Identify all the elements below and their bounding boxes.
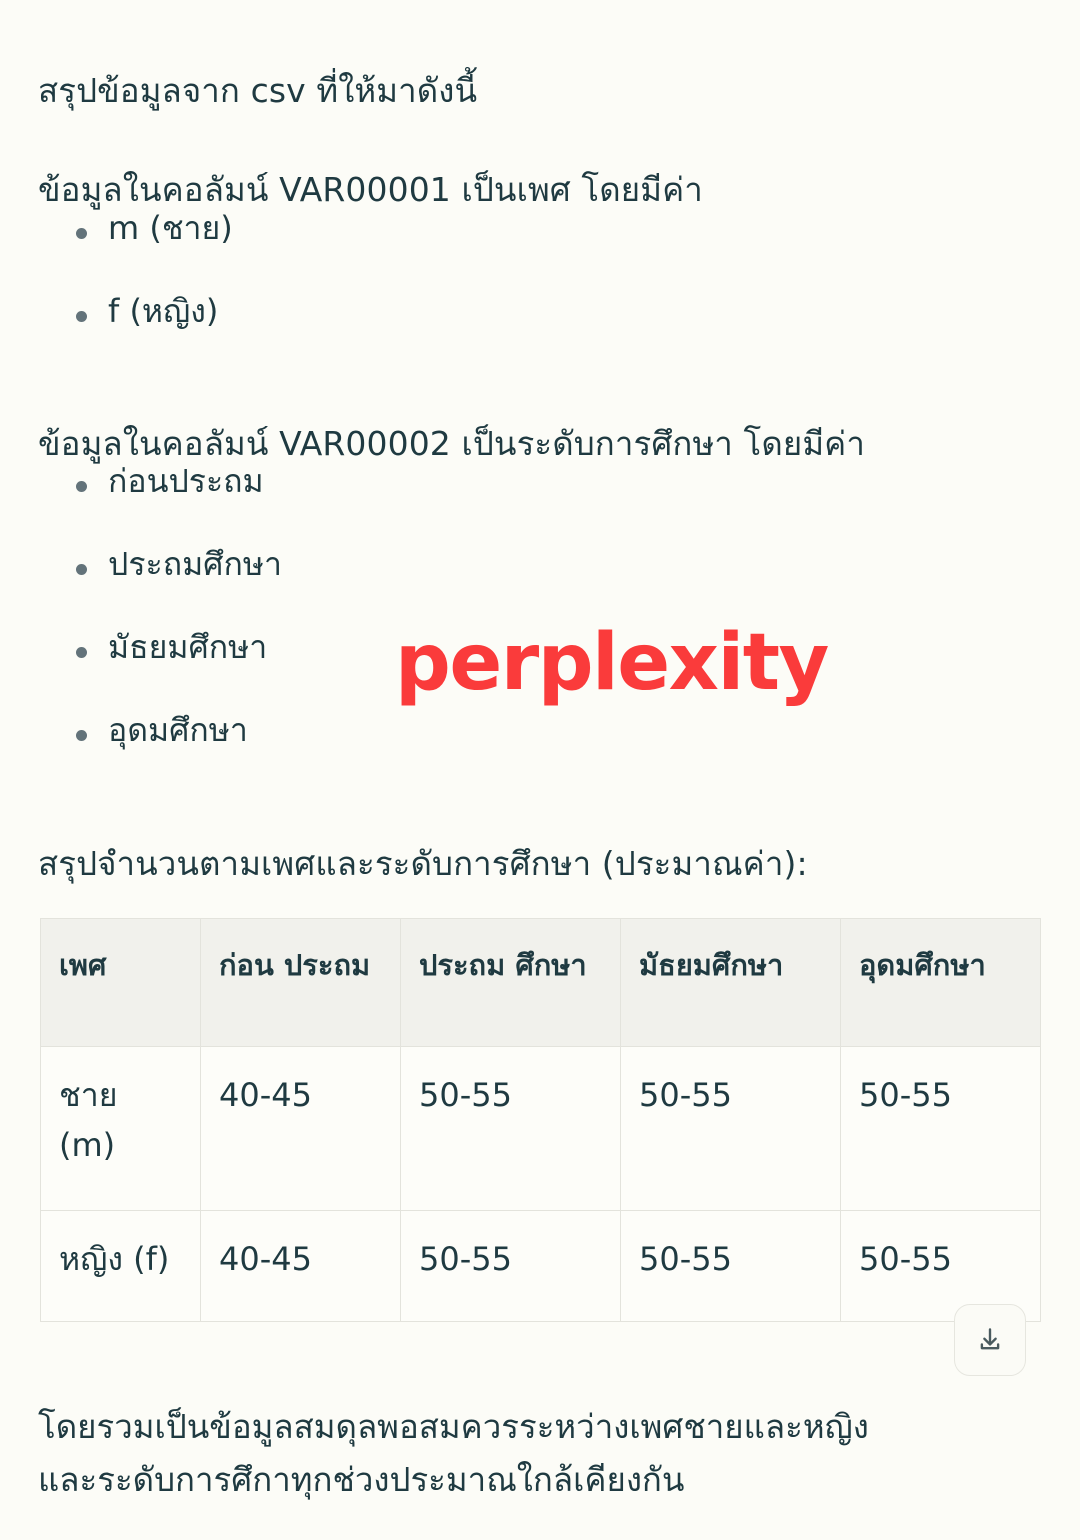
closing-paragraph: โดยรวมเป็นข้อมูลสมดุลพอสมควรระหว่างเพศชา… — [38, 1400, 1048, 1507]
closing-line-1: โดยรวมเป็นข้อมูลสมดุลพอสมควรระหว่างเพศชา… — [38, 1400, 1048, 1453]
cell-pre-primary: 40-45 — [201, 1047, 401, 1211]
column-header-primary: ประถม ศึกษา — [401, 919, 621, 1047]
bullet-point-icon — [76, 730, 87, 741]
cell-primary: 50-55 — [401, 1211, 621, 1322]
table-caption: สรุปจำนวนตามเพศและระดับการศึกษา (ประมาณค… — [38, 838, 808, 890]
list-item: m (ชาย) — [38, 212, 233, 295]
table-header-row: เพศ ก่อน ประถม ประถม ศึกษา มัธยมศึกษา อุ… — [41, 919, 1041, 1047]
list-item: อุดมศึกษา — [38, 714, 282, 797]
list-item: ก่อนประถม — [38, 465, 282, 548]
bullet-point-icon — [76, 481, 87, 492]
bullet-point-icon — [76, 228, 87, 239]
column-header-tertiary: อุดมศึกษา — [841, 919, 1041, 1047]
cell-tertiary: 50-55 — [841, 1047, 1041, 1211]
cell-primary: 50-55 — [401, 1047, 621, 1211]
summary-table: เพศ ก่อน ประถม ประถม ศึกษา มัธยมศึกษา อุ… — [40, 918, 1041, 1322]
table-row: หญิง (f) 40-45 50-55 50-55 50-55 — [41, 1211, 1041, 1322]
page-root: สรุปข้อมูลจาก csv ที่ให้มาดังนี้ ข้อมูลใ… — [0, 0, 1080, 1540]
column-header-secondary: มัธยมศึกษา — [621, 919, 841, 1047]
bullet-point-icon — [76, 564, 87, 575]
list-item-label: มัธยมศึกษา — [108, 631, 267, 663]
list-item: f (หญิง) — [38, 295, 233, 378]
education-values-list: ก่อนประถม ประถมศึกษา มัธยมศึกษา อุดมศึกษ… — [38, 465, 282, 797]
cell-secondary: 50-55 — [621, 1211, 841, 1322]
list-item-label: m (ชาย) — [108, 212, 233, 244]
intro-paragraph: สรุปข้อมูลจาก csv ที่ให้มาดังนี้ — [38, 65, 477, 117]
download-icon — [975, 1325, 1005, 1355]
table-row: ชาย (m) 40-45 50-55 50-55 50-55 — [41, 1047, 1041, 1211]
list-item: มัธยมศึกษา — [38, 631, 282, 714]
list-item-label: ก่อนประถม — [108, 465, 264, 497]
cell-gender: หญิง (f) — [41, 1211, 201, 1322]
list-item-label: ประถมศึกษา — [108, 548, 282, 580]
cell-pre-primary: 40-45 — [201, 1211, 401, 1322]
column-header-pre-primary: ก่อน ประถม — [201, 919, 401, 1047]
perplexity-watermark: perplexity — [395, 618, 828, 708]
column-header-gender: เพศ — [41, 919, 201, 1047]
list-item: ประถมศึกษา — [38, 548, 282, 631]
list-item-label: f (หญิง) — [108, 295, 218, 327]
bullet-point-icon — [76, 311, 87, 322]
closing-line-2: และระดับการศึกาทุกช่วงประมาณใกล้เคียงกัน — [38, 1453, 1048, 1506]
gender-values-list: m (ชาย) f (หญิง) — [38, 212, 233, 378]
cell-secondary: 50-55 — [621, 1047, 841, 1211]
download-table-button[interactable] — [954, 1304, 1026, 1376]
list-item-label: อุดมศึกษา — [108, 714, 248, 746]
cell-gender: ชาย (m) — [41, 1047, 201, 1211]
bullet-point-icon — [76, 647, 87, 658]
